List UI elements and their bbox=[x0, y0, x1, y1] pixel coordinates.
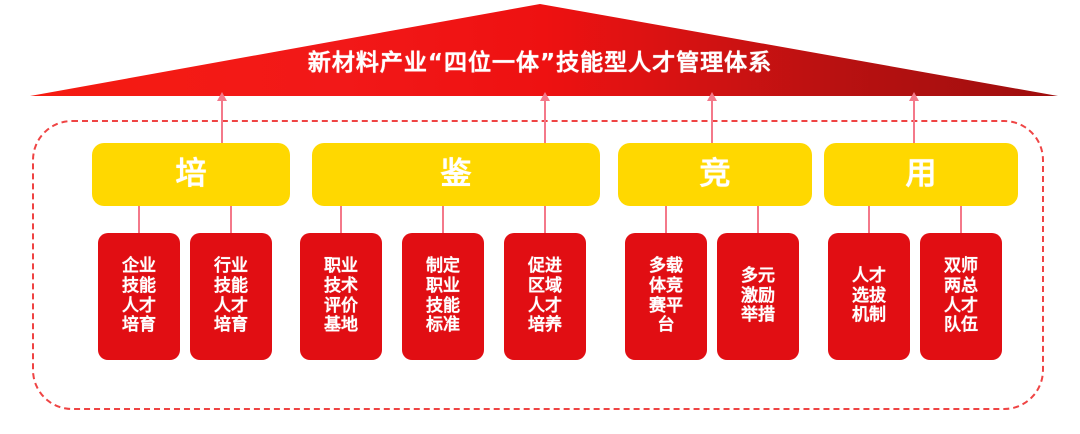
connector-4-1 bbox=[868, 206, 870, 233]
connector-3-2 bbox=[757, 206, 759, 233]
banner-roof: 新材料产业“四位一体”技能型人才管理体系 bbox=[0, 0, 1080, 102]
page-title: 新材料产业“四位一体”技能型人才管理体系 bbox=[0, 52, 1080, 75]
arrow-shaft bbox=[913, 100, 915, 143]
leaf-label-2-3: 促进 区域 人才 培养 bbox=[528, 257, 562, 336]
leaf-label-4-1: 人才 选拔 机制 bbox=[852, 267, 886, 326]
leaf-label-1-1: 企业 技能 人才 培育 bbox=[122, 257, 156, 336]
connector-2-2 bbox=[442, 206, 444, 233]
leaf-label-1-2: 行业 技能 人才 培育 bbox=[214, 257, 248, 336]
leaf-box-1-1[interactable]: 企业 技能 人才 培育 bbox=[98, 233, 180, 360]
pillar-box-4[interactable]: 用 bbox=[824, 143, 1018, 206]
leaf-box-4-1[interactable]: 人才 选拔 机制 bbox=[828, 233, 910, 360]
leaf-box-2-2[interactable]: 制定 职业 技能 标准 bbox=[402, 233, 484, 360]
pillar-label-2: 鉴 bbox=[441, 159, 472, 190]
connector-3-1 bbox=[665, 206, 667, 233]
diagram-canvas: 新材料产业“四位一体”技能型人才管理体系 培 企业 技能 人才 培育 行业 技能… bbox=[0, 0, 1080, 434]
leaf-box-1-2[interactable]: 行业 技能 人才 培育 bbox=[190, 233, 272, 360]
leaf-box-3-2[interactable]: 多元 激励 举措 bbox=[717, 233, 799, 360]
arrow-shaft bbox=[711, 100, 713, 143]
connector-2-1 bbox=[340, 206, 342, 233]
connector-2-3 bbox=[544, 206, 546, 233]
pillar-label-4: 用 bbox=[906, 159, 937, 190]
connector-4-2 bbox=[960, 206, 962, 233]
leaf-box-4-2[interactable]: 双师 两总 人才 队伍 bbox=[920, 233, 1002, 360]
pillar-label-1: 培 bbox=[176, 159, 207, 190]
arrow-shaft bbox=[221, 100, 223, 143]
leaf-label-2-1: 职业 技术 评价 基地 bbox=[324, 257, 358, 336]
pillar-box-2[interactable]: 鉴 bbox=[312, 143, 600, 206]
leaf-box-2-3[interactable]: 促进 区域 人才 培养 bbox=[504, 233, 586, 360]
leaf-box-3-1[interactable]: 多载 体竞 赛平 台 bbox=[625, 233, 707, 360]
pillar-box-1[interactable]: 培 bbox=[92, 143, 290, 206]
leaf-label-2-2: 制定 职业 技能 标准 bbox=[426, 257, 460, 336]
connector-1-2 bbox=[230, 206, 232, 233]
leaf-label-4-2: 双师 两总 人才 队伍 bbox=[944, 257, 978, 336]
pillar-box-3[interactable]: 竞 bbox=[618, 143, 812, 206]
leaf-label-3-2: 多元 激励 举措 bbox=[741, 267, 775, 326]
connector-1-1 bbox=[138, 206, 140, 233]
arrow-shaft bbox=[544, 100, 546, 143]
leaf-box-2-1[interactable]: 职业 技术 评价 基地 bbox=[300, 233, 382, 360]
pillar-label-3: 竞 bbox=[700, 159, 731, 190]
leaf-label-3-1: 多载 体竞 赛平 台 bbox=[649, 257, 683, 336]
